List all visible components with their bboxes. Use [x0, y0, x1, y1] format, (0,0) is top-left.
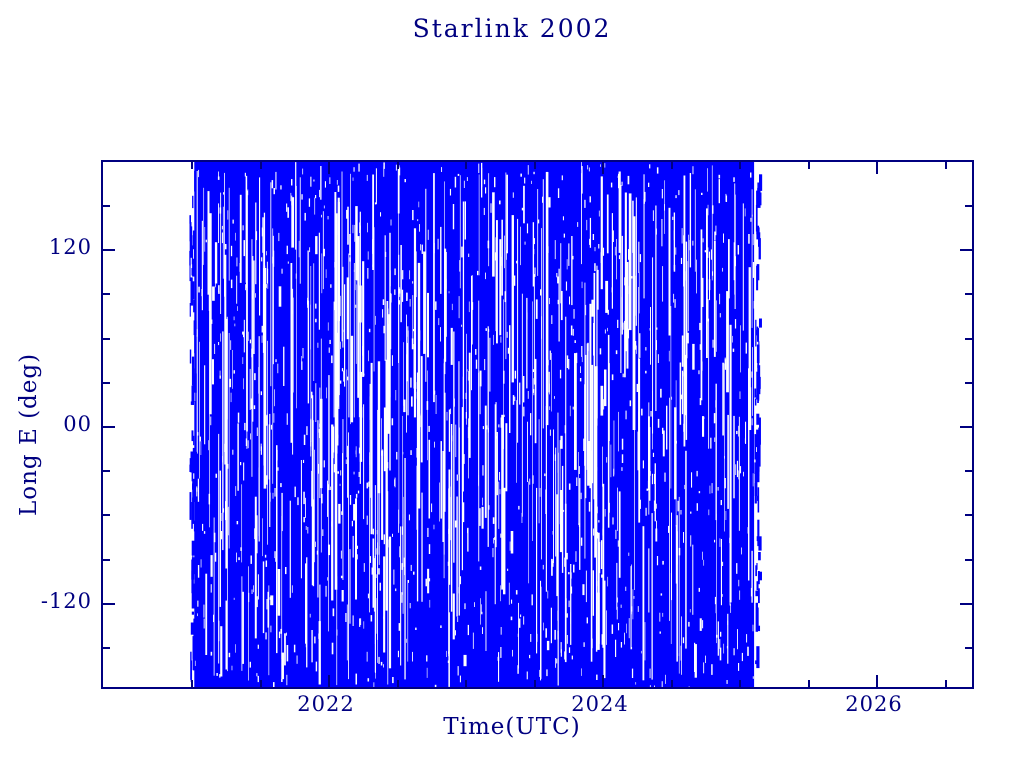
x-tick-top-minor-2025: [739, 162, 741, 169]
x-tick-label-2024: 2024: [571, 692, 628, 716]
y-tick-minor--90: [103, 559, 110, 561]
x-tick-top-minor-2022-5: [397, 162, 399, 169]
x-tick-major-2022: [328, 675, 330, 687]
y-tick-right-minor--90: [965, 559, 972, 561]
chart-page: Starlink 2002 Long E (deg) Time(UTC) 120…: [0, 0, 1024, 768]
y-axis-title: Long E (deg): [16, 353, 42, 516]
data-series-layer: [103, 162, 972, 687]
x-tick-minor-2026-5: [945, 680, 947, 687]
x-tick-minor-2024-5: [671, 680, 673, 687]
x-tick-minor-2022-5: [397, 680, 399, 687]
x-axis-title: Time(UTC): [0, 714, 1024, 740]
y-tick-right-minor--30: [965, 470, 972, 472]
y-tick-right-minor-30: [965, 382, 972, 384]
x-tick-top-minor-2024-5: [671, 162, 673, 169]
y-tick-minor--60: [103, 514, 110, 516]
x-tick-label-2026: 2026: [845, 692, 902, 716]
x-tick-label-2022: 2022: [297, 692, 354, 716]
y-tick-right-major-0: [960, 426, 972, 428]
x-tick-major-2024: [602, 675, 604, 687]
x-tick-top-minor-2023: [465, 162, 467, 169]
y-tick-right-major-120: [960, 249, 972, 251]
plot-frame: [101, 160, 974, 689]
x-tick-top-major-2024: [602, 162, 604, 174]
y-tick-right-minor--150: [965, 647, 972, 649]
y-tick-minor-150: [103, 205, 110, 207]
x-tick-minor-2023-5: [534, 680, 536, 687]
y-tick-minor-60: [103, 338, 110, 340]
y-tick-minor--150: [103, 647, 110, 649]
y-tick-label-120: 120: [46, 235, 92, 259]
y-tick-minor-90: [103, 293, 110, 295]
longitude-vs-time-scatter: [103, 162, 972, 687]
y-tick-minor-30: [103, 382, 110, 384]
y-tick-major-0: [103, 426, 115, 428]
x-tick-minor-2023: [465, 680, 467, 687]
x-tick-top-minor-2025-5: [808, 162, 810, 169]
x-tick-minor-2021: [191, 680, 193, 687]
y-tick-minor--30: [103, 470, 110, 472]
x-tick-minor-2025: [739, 680, 741, 687]
chart-title: Starlink 2002: [0, 14, 1024, 43]
y-tick-right-minor--60: [965, 514, 972, 516]
x-tick-top-minor-2023-5: [534, 162, 536, 169]
x-tick-major-2026: [876, 675, 878, 687]
x-tick-top-minor-2021-5: [260, 162, 262, 169]
y-tick-right-minor-60: [965, 338, 972, 340]
y-tick-right-minor-90: [965, 293, 972, 295]
x-tick-top-major-2022: [328, 162, 330, 174]
x-tick-top-major-2026: [876, 162, 878, 174]
y-tick-major-120: [103, 249, 115, 251]
y-tick-label-0: 00: [46, 412, 92, 436]
y-tick-label-minus-120: -120: [31, 589, 92, 613]
y-tick-right-minor-150: [965, 205, 972, 207]
x-tick-top-minor-2026-5: [945, 162, 947, 169]
y-tick-major--120: [103, 603, 115, 605]
x-tick-minor-2021-5: [260, 680, 262, 687]
x-tick-top-minor-2021: [191, 162, 193, 169]
x-tick-minor-2025-5: [808, 680, 810, 687]
y-tick-right-major--120: [960, 603, 972, 605]
